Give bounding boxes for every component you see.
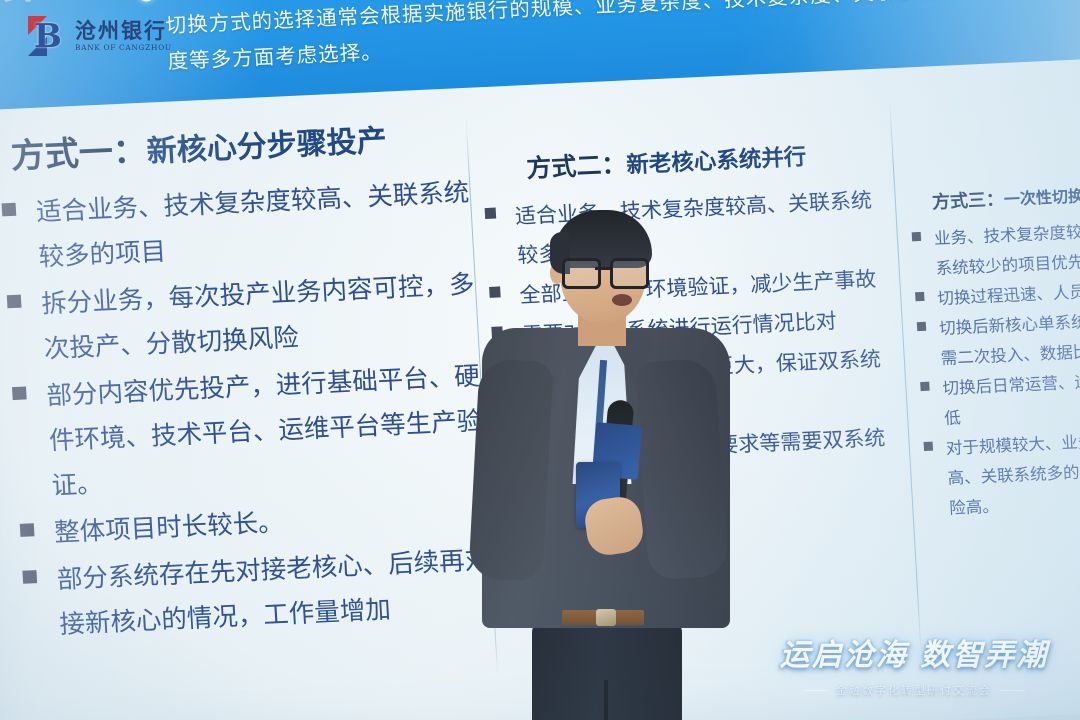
bank-name-cn: 沧州银行 — [75, 20, 172, 42]
eyeglasses-icon — [562, 258, 646, 284]
bullet-square-icon — [22, 570, 37, 584]
bullet-text: 适合业务、技术复杂度较高、关联系统较多的项目 — [35, 171, 476, 281]
bullet-square-icon — [20, 523, 35, 537]
column-three-bullets: 业务、技术复杂度较低、关联系统较少的项目优先选择 切换过程迅速、人员投入较少 切… — [911, 214, 1080, 525]
bullet-text: 对于规模较大、业务复杂度高、关联系统多的项目切换风险高。 — [945, 423, 1080, 523]
speaker-mouth — [612, 294, 632, 306]
speaker-leg-split — [604, 680, 608, 720]
column-one-subtitle: 新核心分步骤投产 — [146, 124, 388, 170]
bank-logo: B 沧州银行 BANK OF CANGZHOU — [28, 13, 180, 59]
slide-column-three: 方式三：一次性切换 业务、技术复杂度较低、关联系统较少的项目优先选择 切换过程迅… — [903, 60, 1080, 525]
bullet-text: 切换后新核心单系统运行，无需二次投入、数据比对等工作 — [938, 304, 1080, 374]
banner-rule-left — [803, 690, 829, 691]
speaker-belt-buckle — [596, 609, 616, 626]
event-banner-title: 运启沧海 数智弄潮 — [764, 630, 1064, 674]
glasses-lens-left — [562, 258, 601, 289]
bullet-text: 部分内容优先投产，进行基础平台、硬件环境、技术平台、运维平台等生产验证。 — [45, 354, 488, 509]
bullet-item: 切换后日常运营、运维成本降低 — [920, 364, 1080, 435]
banner-rule-right — [999, 690, 1025, 691]
column-one-number: 方式一： — [10, 131, 148, 177]
bank-logo-mark-icon: B — [28, 16, 68, 56]
logo-swirl-icon: B — [34, 19, 62, 52]
bank-name-en: BANK OF CANGZHOU — [75, 42, 172, 53]
bullet-item: 部分内容优先投产，进行基础平台、硬件环境、技术平台、运维平台等生产验证。 — [11, 354, 488, 511]
column-one-title: 方式一：新核心分步骤投产 — [9, 108, 469, 178]
conference-photo: 方式 信创环境的切换方式 主流的切换方式为三种：新老核心系统并行使用、新核心分步… — [0, 0, 1080, 720]
speaker-arm-left — [468, 358, 553, 582]
bullet-text: 业务、技术复杂度较低、关联系统较少的项目优先选择 — [933, 214, 1080, 284]
bullet-item: 对于规模较大、业务复杂度高、关联系统多的项目切换风险高。 — [923, 423, 1080, 524]
bank-logo-text: 沧州银行 BANK OF CANGZHOU — [75, 20, 172, 53]
bullet-square-icon — [924, 442, 933, 451]
bullet-square-icon — [915, 292, 924, 301]
bullet-item: 业务、技术复杂度较低、关联系统较少的项目优先选择 — [911, 214, 1080, 285]
column-two-subtitle: 新老核心系统并行 — [626, 144, 807, 178]
bullet-square-icon — [2, 202, 17, 216]
event-banner: 运启沧海 数智弄潮 金融数字化转型研讨交流会 — [764, 630, 1064, 706]
header-ghost-text: 方式 — [0, 0, 37, 11]
bullet-text: 拆分业务，每次投产业务内容可控，多次投产、分散切换风险 — [40, 263, 481, 373]
event-banner-subtitle: 金融数字化转型研讨交流会 — [764, 682, 1064, 698]
bullet-text: 切换后日常运营、运维成本降低 — [942, 364, 1080, 434]
header-bullet-dot — [137, 0, 155, 2]
column-two-title: 方式二：新老核心系统并行 — [525, 133, 883, 185]
column-one-bullets: 适合业务、技术复杂度较高、关联系统较多的项目 拆分业务，每次投产业务内容可控，多… — [1, 171, 496, 650]
speaker-figure — [466, 210, 746, 720]
speaker-arm-right — [634, 357, 729, 580]
event-banner-subtitle-text: 金融数字化转型研讨交流会 — [836, 682, 992, 698]
bullet-square-icon — [912, 232, 921, 241]
column-three-title: 方式三：一次性切换 — [931, 178, 1080, 215]
glasses-bridge — [595, 267, 610, 270]
bullet-square-icon — [917, 322, 926, 331]
bullet-text: 部分系统存在先对接老核心、后续再对接新核心的情况，工作量增加 — [56, 538, 497, 648]
bullet-square-icon — [7, 294, 22, 308]
glasses-lens-right — [610, 258, 649, 289]
slide-column-one: 方式一：新核心分步骤投产 适合业务、技术复杂度较高、关联系统较多的项目 拆分业务… — [0, 92, 497, 652]
bullet-square-icon — [12, 386, 27, 400]
column-three-number: 方式三： — [931, 189, 1004, 213]
bullet-item: 切换后新核心单系统运行，无需二次投入、数据比对等工作 — [916, 304, 1080, 375]
bullet-item: 部分系统存在先对接老核心、后续再对接新核心的情况，工作量增加 — [22, 538, 497, 650]
column-three-subtitle: 一次性切换 — [1003, 186, 1080, 209]
column-two-number: 方式二： — [526, 149, 628, 183]
bullet-square-icon — [920, 382, 929, 391]
slide-header-body: 主流的切换方式为三种：新老核心系统并行使用、新核心分步骤投产、一次性切换， 切换… — [163, 0, 1080, 80]
